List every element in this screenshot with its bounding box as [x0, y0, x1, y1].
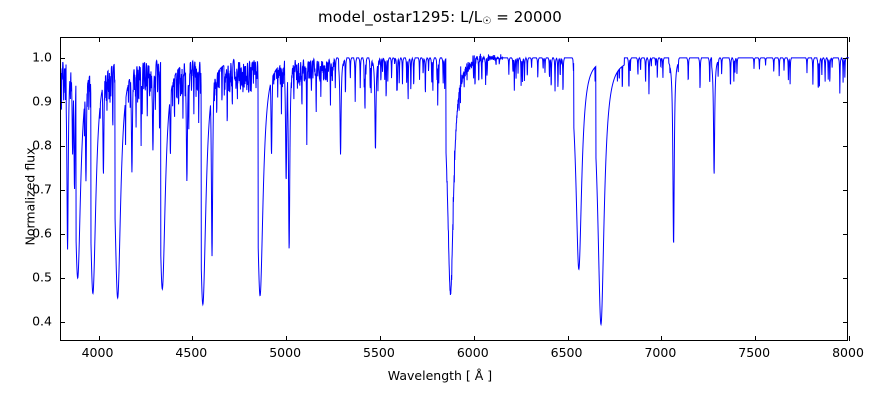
spectrum-line-plot	[61, 38, 849, 342]
x-tick-label-5500: 5500	[363, 345, 395, 360]
x-tick-4500	[192, 336, 193, 341]
x-tick-label-7000: 7000	[644, 345, 676, 360]
x-tick-top-7500	[755, 37, 756, 42]
x-tick-top-7000	[661, 37, 662, 42]
x-tick-label-6000: 6000	[457, 345, 489, 360]
x-tick-8000	[849, 336, 850, 341]
plot-axes	[60, 37, 848, 341]
x-tick-6000	[474, 336, 475, 341]
x-tick-label-5000: 5000	[269, 345, 301, 360]
x-tick-7500	[755, 336, 756, 341]
x-tick-top-4000	[99, 37, 100, 42]
x-tick-top-5500	[380, 37, 381, 42]
spectrum-figure: model_ostar1295: L/L☉ = 20000 Wavelength…	[0, 0, 880, 400]
y-tick-label-1.0: 1.0	[52, 49, 72, 64]
y-tick-label-0.9: 0.9	[52, 93, 72, 108]
y-tick-right-0.6	[843, 234, 848, 235]
y-tick-label-0.7: 0.7	[52, 182, 72, 197]
y-tick-label-0.8: 0.8	[52, 137, 72, 152]
x-tick-6500	[568, 336, 569, 341]
page-title: model_ostar1295: L/L☉ = 20000	[0, 8, 880, 27]
x-tick-5500	[380, 336, 381, 341]
y-tick-right-0.7	[843, 190, 848, 191]
x-tick-top-5000	[286, 37, 287, 42]
x-tick-label-7500: 7500	[738, 345, 770, 360]
x-tick-4000	[99, 336, 100, 341]
y-tick-right-0.4	[843, 322, 848, 323]
y-tick-label-0.5: 0.5	[52, 270, 72, 285]
y-tick-right-0.5	[843, 278, 848, 279]
y-tick-label-0.4: 0.4	[52, 314, 72, 329]
y-tick-right-0.8	[843, 146, 848, 147]
x-tick-label-4000: 4000	[82, 345, 114, 360]
sun-subscript-symbol: ☉	[482, 16, 491, 27]
x-tick-top-8000	[849, 37, 850, 42]
spectrum-trace	[61, 54, 849, 325]
x-axis-label: Wavelength [ Å ]	[0, 368, 880, 383]
x-tick-label-6500: 6500	[551, 345, 583, 360]
x-tick-top-6500	[568, 37, 569, 42]
x-tick-label-8000: 8000	[832, 345, 864, 360]
x-tick-7000	[661, 336, 662, 341]
x-tick-label-4500: 4500	[175, 345, 207, 360]
y-tick-right-0.9	[843, 102, 848, 103]
y-tick-label-0.6: 0.6	[52, 226, 72, 241]
x-tick-5000	[286, 336, 287, 341]
x-tick-top-6000	[474, 37, 475, 42]
y-tick-right-1.0	[843, 58, 848, 59]
x-tick-top-4500	[192, 37, 193, 42]
plot-title-text: model_ostar1295: L/L	[318, 8, 482, 26]
plot-title-suffix: = 20000	[491, 8, 562, 26]
